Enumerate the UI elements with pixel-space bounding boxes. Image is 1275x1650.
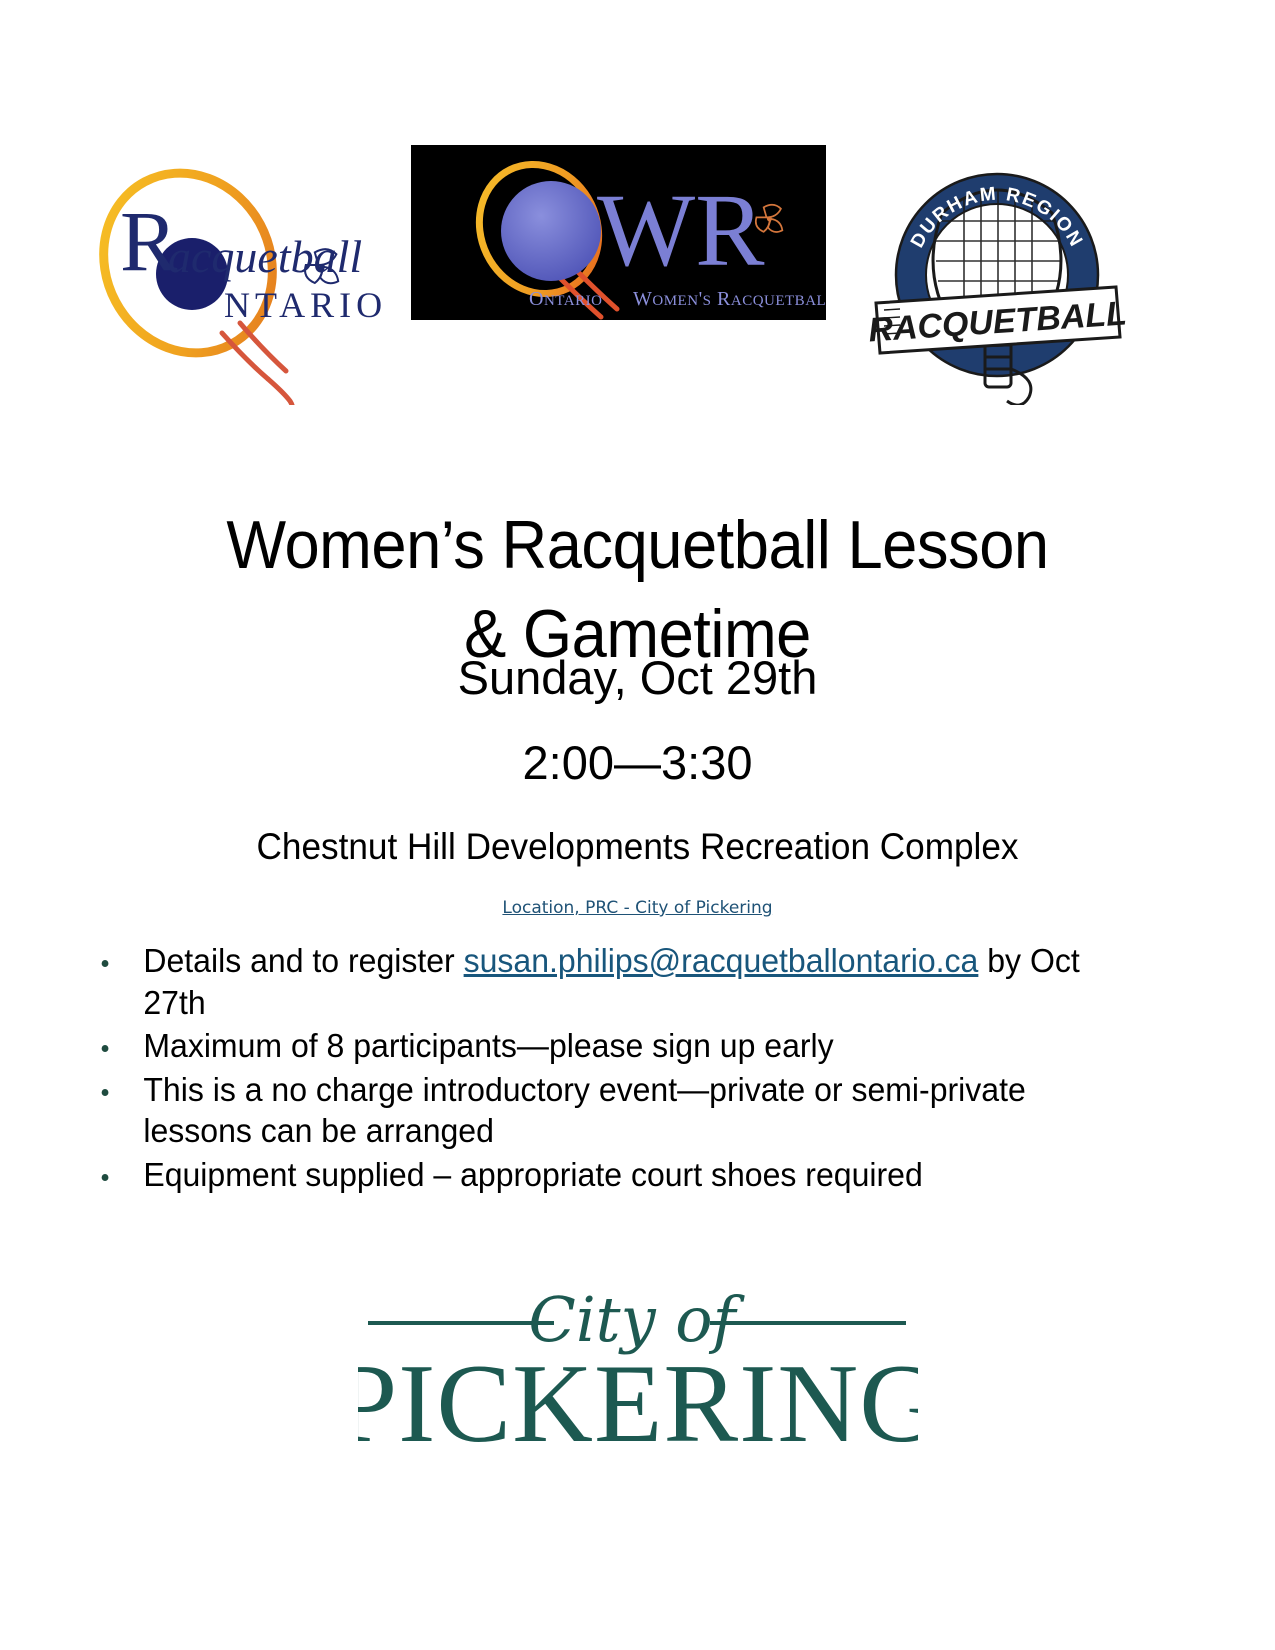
- list-item: Details and to register susan.philips@ra…: [90, 940, 1118, 1023]
- bullet-dot-icon: [102, 1089, 109, 1096]
- ro-logo-word: acquetball: [168, 231, 362, 282]
- location-link[interactable]: Location, PRC - City of Pickering: [502, 898, 772, 918]
- durham-region-logo: DURHAM REGION RACQUETBALL: [868, 155, 1126, 405]
- location-link-container: Location, PRC - City of Pickering: [0, 898, 1275, 918]
- event-venue: Chestnut Hill Developments Recreation Co…: [32, 826, 1243, 869]
- list-item-text: Equipment supplied – appropriate court s…: [143, 1156, 922, 1193]
- pickering-wordmark: PICKERING: [358, 1342, 918, 1466]
- list-item-text: Maximum of 8 participants—please sign up…: [143, 1027, 833, 1064]
- ro-logo-ontario: NTARIO: [224, 285, 387, 325]
- details-list: Details and to register susan.philips@ra…: [90, 940, 1118, 1197]
- page-title-line-1: Women’s Racquetball Lesson: [226, 507, 1048, 583]
- owr-logo: WR ONTARIO WOMEN'S RACQUETBALL: [411, 145, 826, 320]
- bullet-dot-icon: [102, 960, 109, 967]
- logo-row: R acquetball NTARIO: [0, 130, 1275, 400]
- email-link[interactable]: susan.philips@racquetballontario.ca: [464, 942, 979, 979]
- list-item: Maximum of 8 participants—please sign up…: [90, 1025, 1118, 1067]
- bullet-dot-icon: [102, 1045, 109, 1052]
- list-item-text-before: Details and to register: [143, 942, 463, 979]
- owr-monogram: WR: [597, 173, 765, 288]
- event-date: Sunday, Oct 29th: [0, 652, 1275, 704]
- racquetball-ontario-logo: R acquetball NTARIO: [72, 165, 392, 405]
- bullet-dot-icon: [102, 1174, 109, 1181]
- event-time: 2:00—3:30: [0, 737, 1275, 789]
- city-of-pickering-logo: City of PICKERING: [0, 1255, 1275, 1485]
- list-item: This is a no charge introductory event—p…: [90, 1069, 1118, 1152]
- list-item-text: This is a no charge introductory event—p…: [143, 1071, 1025, 1150]
- list-item: Equipment supplied – appropriate court s…: [90, 1154, 1118, 1196]
